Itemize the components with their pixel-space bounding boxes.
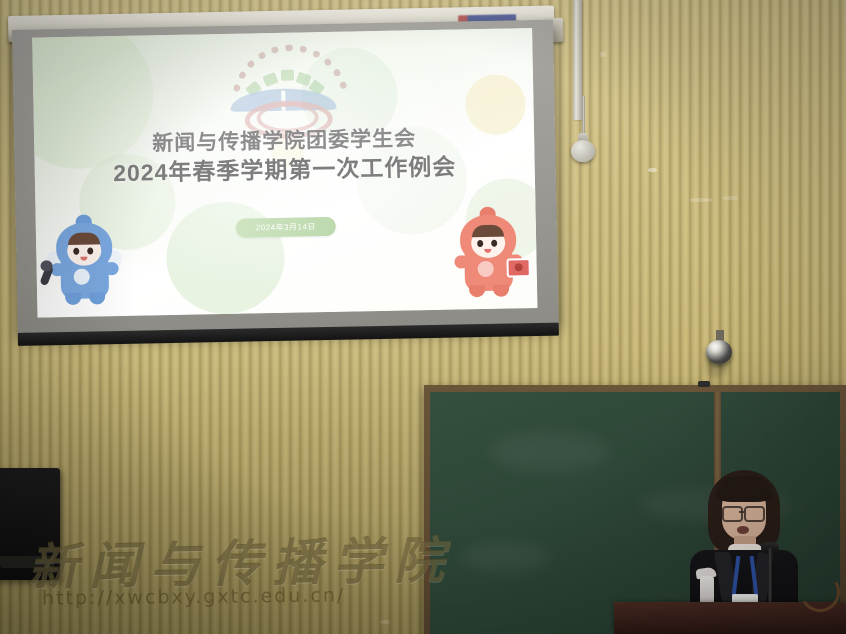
mascot-leg-right — [89, 292, 105, 304]
spray-bottle — [700, 576, 714, 604]
fringe — [716, 476, 772, 502]
wall-speck — [600, 52, 606, 57]
mascot-leg-left — [65, 293, 81, 305]
mascot-eye-right — [87, 247, 93, 254]
mascot-eye-right — [491, 240, 497, 247]
mascot-eye-left — [477, 240, 483, 247]
wall-speck — [690, 198, 712, 202]
watermark: 新闻与传播学院 http://xwcbxy.gxtc.edu.cn/ — [28, 524, 498, 624]
slide-date-badge: 2024年3月14日 — [236, 217, 337, 238]
mascot-leg-left — [469, 285, 485, 297]
mascot-hair — [68, 232, 100, 245]
projected-image-area: 新闻与传播学院团委学生会 2024年春季学期第一次工作例会 2024年3月14日 — [32, 28, 537, 318]
lecture-hall-photo: 新闻与传播学院团委学生会 2024年春季学期第一次工作例会 2024年3月14日 — [0, 0, 846, 634]
blue-mascot-icon — [52, 218, 118, 305]
mascot-arm-left — [454, 255, 468, 268]
glasses-bridge — [739, 511, 744, 513]
glasses-left-lens — [722, 506, 743, 522]
hanging-microphone — [571, 140, 595, 162]
university-emblem-icon — [219, 42, 347, 126]
mascot-arm-right — [104, 262, 118, 275]
mouth — [737, 526, 749, 534]
mascot-eye-left — [73, 248, 79, 255]
slide-title: 新闻与传播学院团委学生会 2024年春季学期第一次工作例会 — [34, 124, 535, 190]
glasses-right-lens — [744, 506, 765, 522]
projection-screen: 新闻与传播学院团委学生会 2024年春季学期第一次工作例会 2024年3月14日 — [12, 20, 559, 335]
mascot-camera-icon — [506, 258, 530, 277]
chalkboard-clip — [698, 381, 710, 387]
wall-conduit — [573, 0, 582, 120]
podium-microphone-stem — [768, 548, 772, 606]
presentation-slide: 新闻与传播学院团委学生会 2024年春季学期第一次工作例会 2024年3月14日 — [32, 28, 537, 318]
watermark-url: http://xwcbxy.gxtc.edu.cn/ — [42, 584, 345, 609]
wall-speck — [648, 168, 657, 172]
mascot-hair — [472, 225, 504, 238]
red-mascot-icon — [456, 210, 522, 297]
wall-speck — [722, 196, 738, 200]
mascot-leg-right — [493, 285, 509, 297]
dome-camera-icon — [706, 340, 732, 364]
